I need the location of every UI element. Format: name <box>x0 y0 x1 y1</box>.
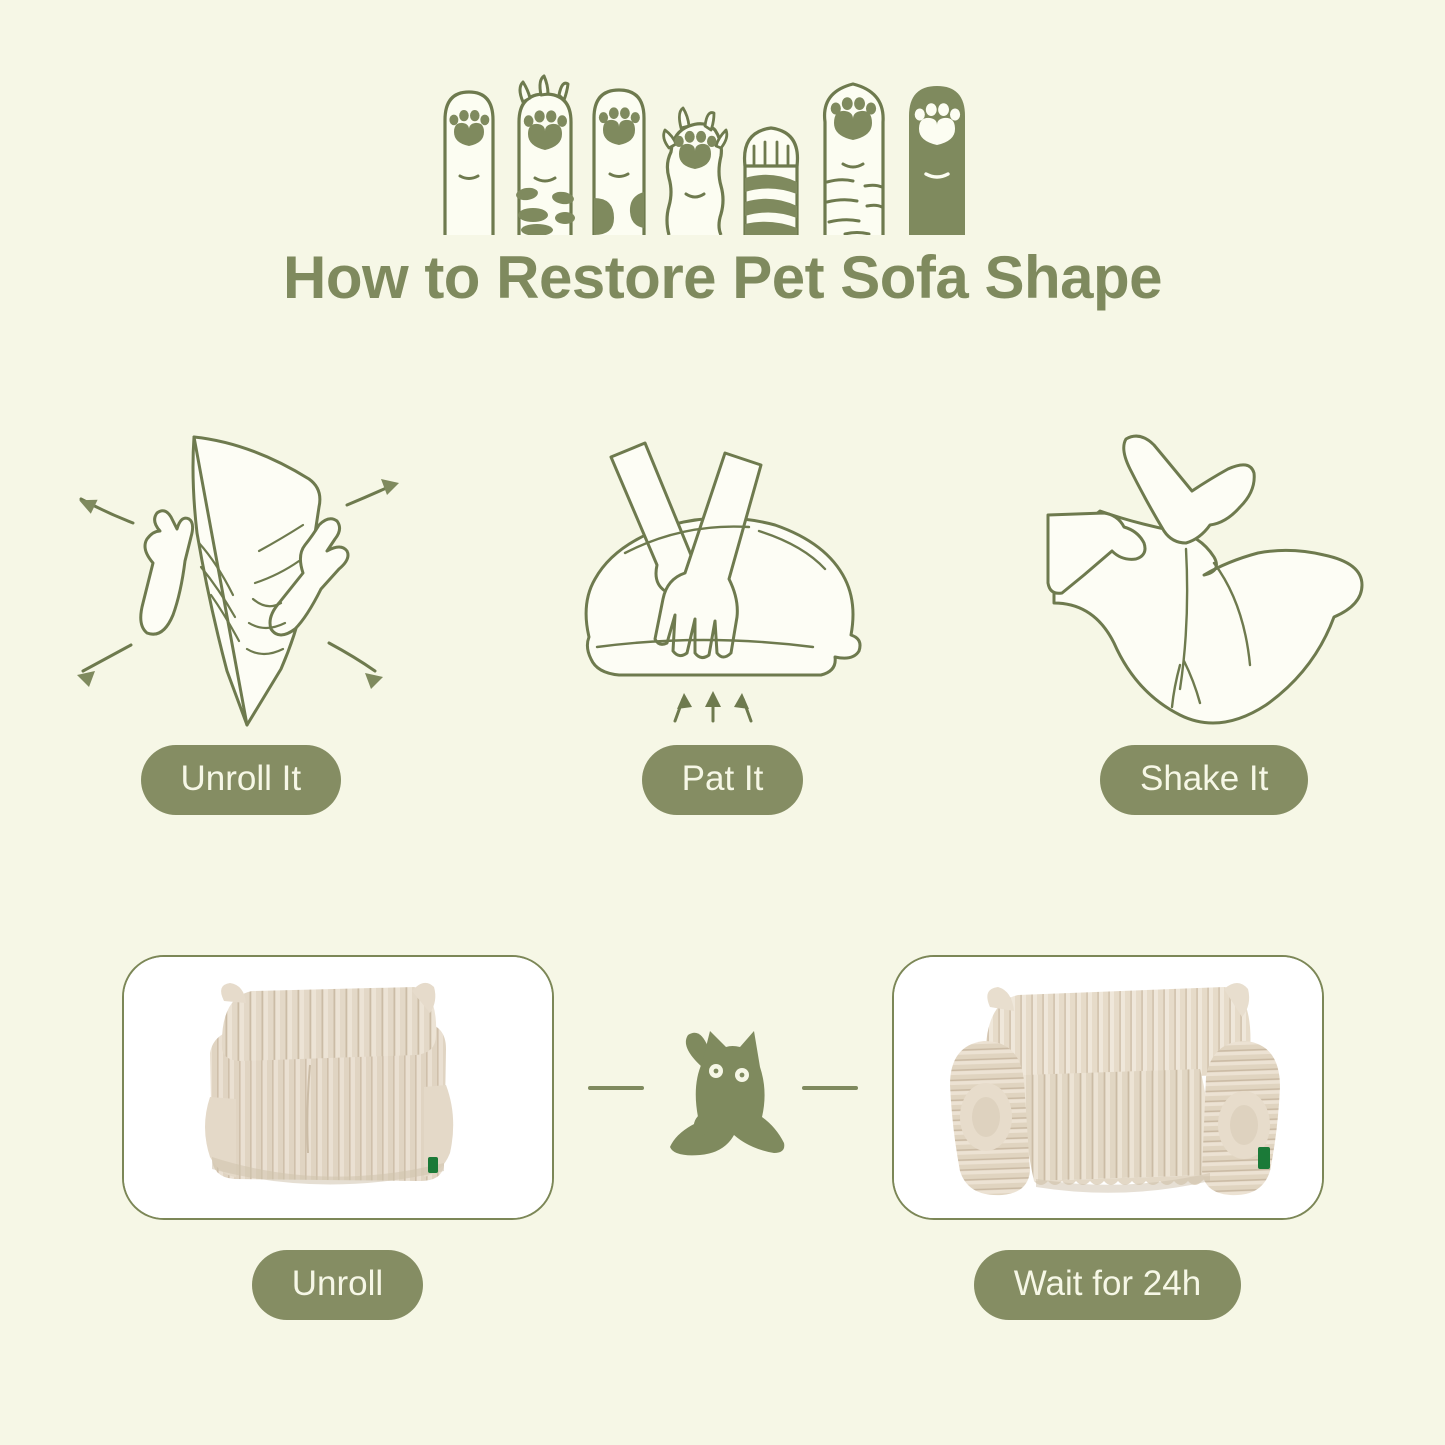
sitting-cat-icon <box>658 1013 788 1163</box>
shake-it-svg <box>1014 403 1394 743</box>
paw-1-plain <box>445 92 493 235</box>
steps-row: Unroll It <box>0 400 1445 840</box>
step-shake-it-illustration <box>1014 400 1394 745</box>
compressed-pet-bed-photo <box>124 957 554 1220</box>
result-divider <box>558 955 888 1220</box>
paw-2-claws-tabby <box>515 76 575 235</box>
step-label-shake-it: Shake It <box>1100 745 1308 815</box>
unroll-it-svg <box>41 403 441 743</box>
brand-tag <box>1258 1147 1270 1169</box>
restored-pet-sofa-photo <box>894 957 1324 1220</box>
cat-paws-row <box>0 60 1445 235</box>
result-label-wait-for-24h: Wait for 24h <box>974 1250 1241 1320</box>
paw-5-mitten-zigzag <box>744 128 797 235</box>
result-label-unroll: Unroll <box>252 1250 423 1320</box>
paw-7-solid <box>909 86 965 235</box>
step-pat-it: Pat It <box>482 400 964 840</box>
results-row: Unroll <box>0 955 1445 1335</box>
divider-dash-right <box>802 1086 858 1090</box>
step-label-unroll-it: Unroll It <box>141 745 342 815</box>
arrow-down-left <box>83 645 131 671</box>
infographic-page: How to Restore Pet Sofa Shape <box>0 0 1445 1445</box>
paw-6-striped <box>824 84 883 235</box>
photo-card-compressed-bed <box>122 955 554 1220</box>
pat-it-svg <box>553 403 893 743</box>
paw-3-patches <box>594 90 644 235</box>
step-label-pat-it: Pat It <box>642 745 804 815</box>
paw-4-fuzzy-claws <box>663 108 726 235</box>
cat-paws-svg <box>433 60 1013 235</box>
photo-card-restored-sofa <box>892 955 1324 1220</box>
step-unroll-it-illustration <box>41 400 441 745</box>
step-unroll-it: Unroll It <box>0 400 482 840</box>
result-before: Unroll <box>118 955 558 1320</box>
page-title: How to Restore Pet Sofa Shape <box>0 243 1445 312</box>
arrow-down-right <box>329 643 375 671</box>
brand-tag <box>428 1157 438 1173</box>
step-shake-it: Shake It <box>963 400 1445 840</box>
result-after: Wait for 24h <box>888 955 1328 1320</box>
step-pat-it-illustration <box>553 400 893 745</box>
divider-dash-left <box>588 1086 644 1090</box>
